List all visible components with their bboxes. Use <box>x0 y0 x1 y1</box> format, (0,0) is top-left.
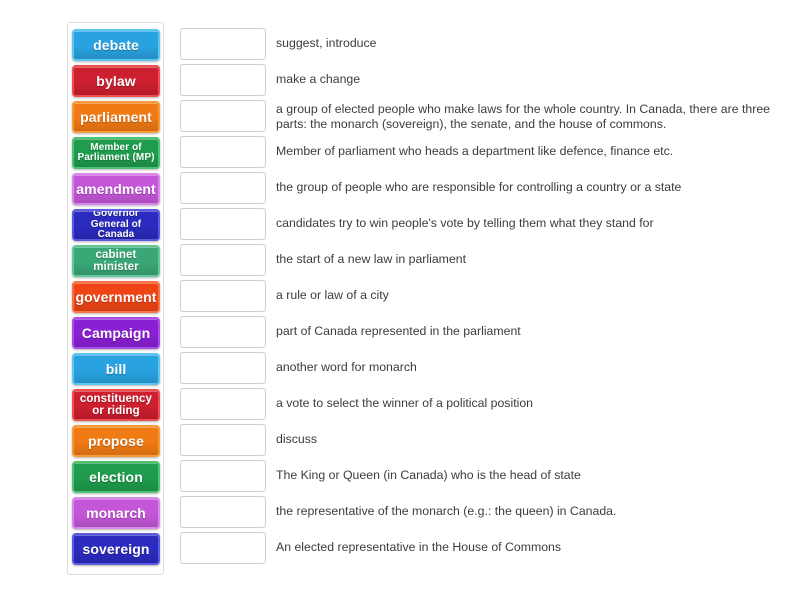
dropzone[interactable] <box>180 532 266 564</box>
match-row: a group of elected people who make laws … <box>180 100 800 132</box>
dropzone[interactable] <box>180 136 266 168</box>
definition-text: a rule or law of a city <box>276 280 389 303</box>
definition-text: the representative of the monarch (e.g.:… <box>276 496 616 519</box>
match-row: the group of people who are responsible … <box>180 172 800 204</box>
match-row: An elected representative in the House o… <box>180 532 800 564</box>
match-row: the start of a new law in parliament <box>180 244 800 276</box>
match-row: candidates try to win people's vote by t… <box>180 208 800 240</box>
definition-text: make a change <box>276 64 360 87</box>
dropzone[interactable] <box>180 496 266 528</box>
match-row: another word for monarch <box>180 352 800 384</box>
dropzone[interactable] <box>180 208 266 240</box>
definition-text: Member of parliament who heads a departm… <box>276 136 673 159</box>
definition-text: candidates try to win people's vote by t… <box>276 208 654 231</box>
definition-text: An elected representative in the House o… <box>276 532 561 555</box>
match-row: discuss <box>180 424 800 456</box>
match-row: Member of parliament who heads a departm… <box>180 136 800 168</box>
dropzone[interactable] <box>180 172 266 204</box>
definition-rows: suggest, introducemake a changea group o… <box>0 0 800 600</box>
match-row: suggest, introduce <box>180 28 800 60</box>
dropzone[interactable] <box>180 352 266 384</box>
definition-text: another word for monarch <box>276 352 417 375</box>
dropzone[interactable] <box>180 28 266 60</box>
dropzone[interactable] <box>180 388 266 420</box>
match-row: part of Canada represented in the parlia… <box>180 316 800 348</box>
dropzone[interactable] <box>180 100 266 132</box>
definition-text: a group of elected people who make laws … <box>276 100 781 132</box>
definition-text: the group of people who are responsible … <box>276 172 681 195</box>
dropzone[interactable] <box>180 424 266 456</box>
match-row: The King or Queen (in Canada) who is the… <box>180 460 800 492</box>
match-row: a rule or law of a city <box>180 280 800 312</box>
match-row: a vote to select the winner of a politic… <box>180 388 800 420</box>
definition-text: discuss <box>276 424 317 447</box>
definition-text: part of Canada represented in the parlia… <box>276 316 521 339</box>
match-row: make a change <box>180 64 800 96</box>
definition-text: the start of a new law in parliament <box>276 244 466 267</box>
dropzone[interactable] <box>180 64 266 96</box>
dropzone[interactable] <box>180 316 266 348</box>
match-up-activity: debatebylawparliamentMember of Parliamen… <box>0 0 800 600</box>
dropzone[interactable] <box>180 460 266 492</box>
dropzone[interactable] <box>180 244 266 276</box>
definition-text: suggest, introduce <box>276 28 377 51</box>
match-row: the representative of the monarch (e.g.:… <box>180 496 800 528</box>
dropzone[interactable] <box>180 280 266 312</box>
definition-text: The King or Queen (in Canada) who is the… <box>276 460 581 483</box>
definition-text: a vote to select the winner of a politic… <box>276 388 533 411</box>
